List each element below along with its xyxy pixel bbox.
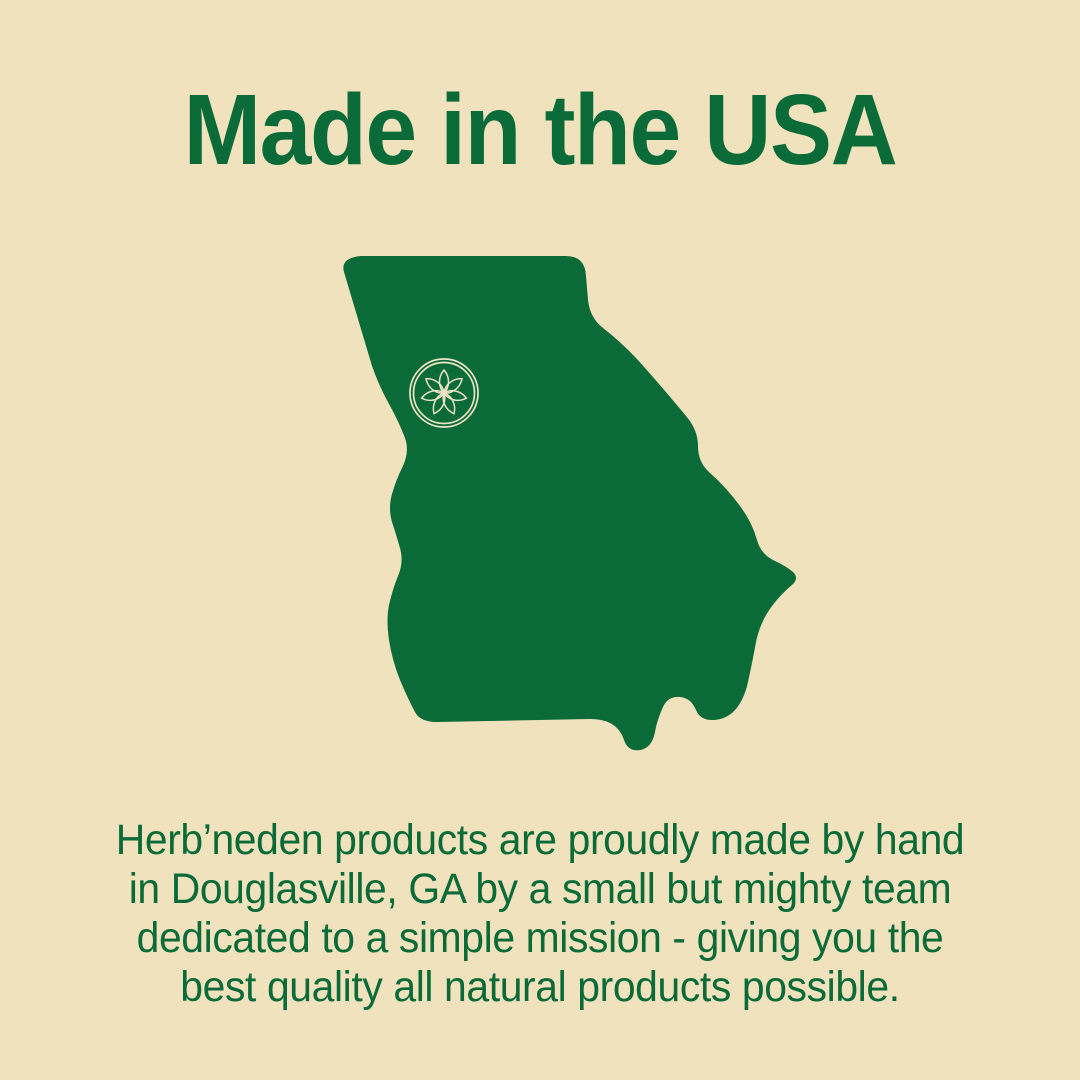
description-line-3: dedicated to a simple mission - giving y… [27, 914, 1053, 963]
herbneden-flower-logo [421, 370, 468, 416]
georgia-state-shape [343, 256, 796, 750]
page-title: Made in the USA [38, 78, 1042, 182]
description-line-1: Herb’neden products are proudly made by … [27, 816, 1053, 865]
description-text: Herb’neden products are proudly made by … [27, 816, 1053, 1012]
logo-outer-ring [410, 359, 478, 427]
logo-inner-ring [414, 363, 475, 424]
made-in-usa-graphic: Made in the USA [0, 0, 1080, 1080]
description-line-2: in Douglasville, GA by a small but might… [27, 865, 1053, 914]
description-line-4: best quality all natural products possib… [27, 963, 1053, 1012]
